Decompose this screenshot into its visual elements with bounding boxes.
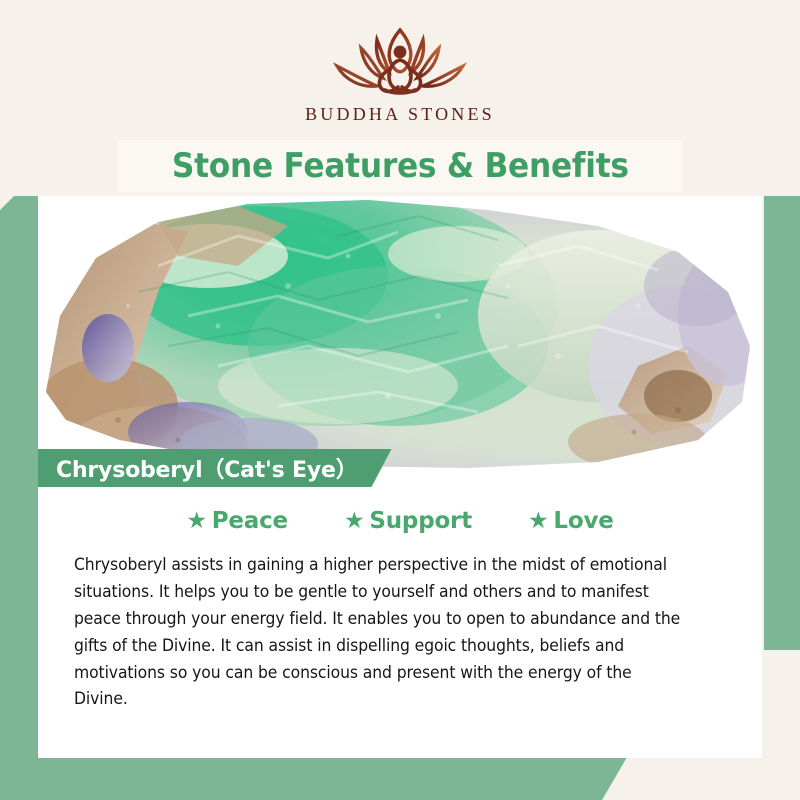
header: BUDDHA STONES Stone Features & Benefits xyxy=(0,0,800,196)
keyword-support: ★ Support xyxy=(344,508,472,534)
frame-band-right xyxy=(764,140,800,650)
stone-name: Chrysoberyl（Cat's Eye） xyxy=(56,452,358,484)
keyword-label: Peace xyxy=(212,508,288,534)
star-icon: ★ xyxy=(344,510,364,533)
content-panel: Chrysoberyl（Cat's Eye） ★ Peace ★ Support… xyxy=(38,196,762,758)
star-icon: ★ xyxy=(528,510,548,533)
stone-name-banner: Chrysoberyl（Cat's Eye） xyxy=(38,449,392,487)
keyword-peace: ★ Peace xyxy=(186,508,288,534)
page-title-band: Stone Features & Benefits xyxy=(118,140,682,192)
frame-band-bottom xyxy=(0,752,630,800)
infographic-card: Chrysoberyl（Cat's Eye） ★ Peace ★ Support… xyxy=(0,0,800,800)
brand-name: BUDDHA STONES xyxy=(305,104,495,125)
brand-logo: BUDDHA STONES xyxy=(0,0,800,125)
stone-photo-illustration xyxy=(38,196,762,472)
page-title: Stone Features & Benefits xyxy=(172,146,629,186)
keyword-love: ★ Love xyxy=(528,508,614,534)
star-icon: ★ xyxy=(186,510,206,533)
lotus-meditation-figure-icon xyxy=(315,22,485,100)
keyword-label: Love xyxy=(553,508,613,534)
keyword-label: Support xyxy=(369,508,472,534)
stone-photo xyxy=(38,196,762,472)
stone-description: Chrysoberyl assists in gaining a higher … xyxy=(74,552,687,713)
frame-band-left xyxy=(0,188,38,800)
keyword-list: ★ Peace ★ Support ★ Love xyxy=(38,508,762,534)
